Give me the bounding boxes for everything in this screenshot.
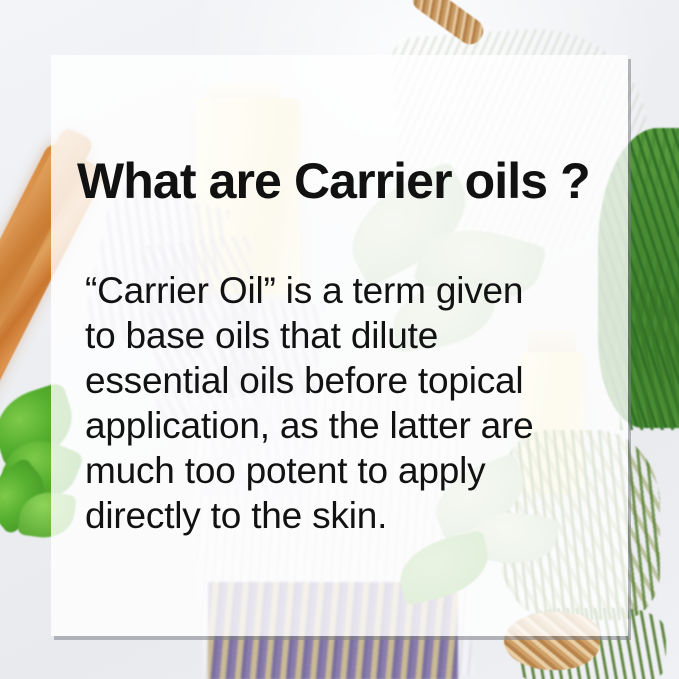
body-text-line: directly to the skin. bbox=[85, 493, 615, 538]
body-text-line: much too potent to apply bbox=[85, 448, 615, 493]
body-text-line: application, as the latter are bbox=[85, 403, 615, 448]
body-text-line: “Carrier Oil” is a term given bbox=[85, 268, 615, 313]
rosemary-sprig-tip-icon bbox=[620, 300, 679, 430]
body-text-block: “Carrier Oil” is a term given to base oi… bbox=[85, 268, 615, 538]
body-text-line: essential oils before topical bbox=[85, 358, 615, 403]
body-text-line: to base oils that dilute bbox=[85, 313, 615, 358]
infographic-canvas: What are Carrier oils ? “Carrier Oil” is… bbox=[0, 0, 679, 679]
page-title: What are Carrier oils ? bbox=[77, 152, 617, 210]
